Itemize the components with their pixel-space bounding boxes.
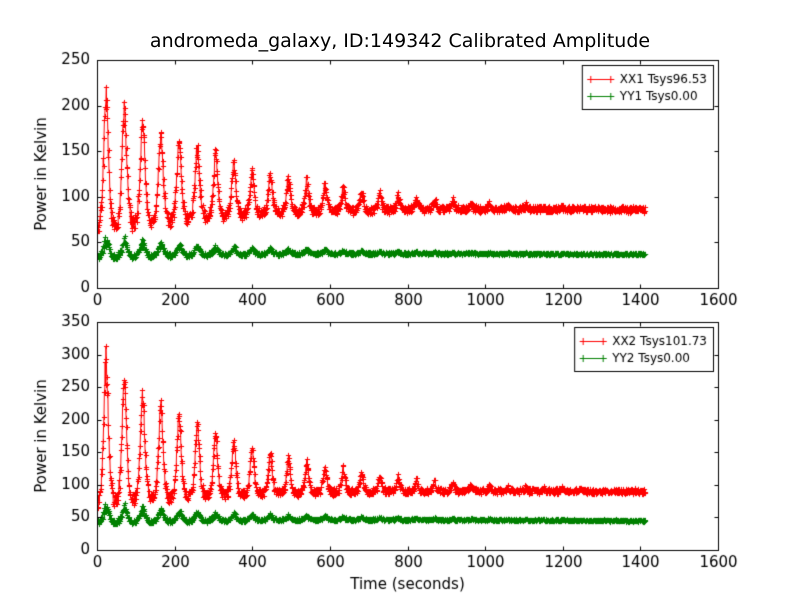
matplotlib-figure: andromeda_galaxy, ID:149342 Calibrated A… — [0, 0, 800, 600]
plot-canvas — [0, 0, 800, 600]
